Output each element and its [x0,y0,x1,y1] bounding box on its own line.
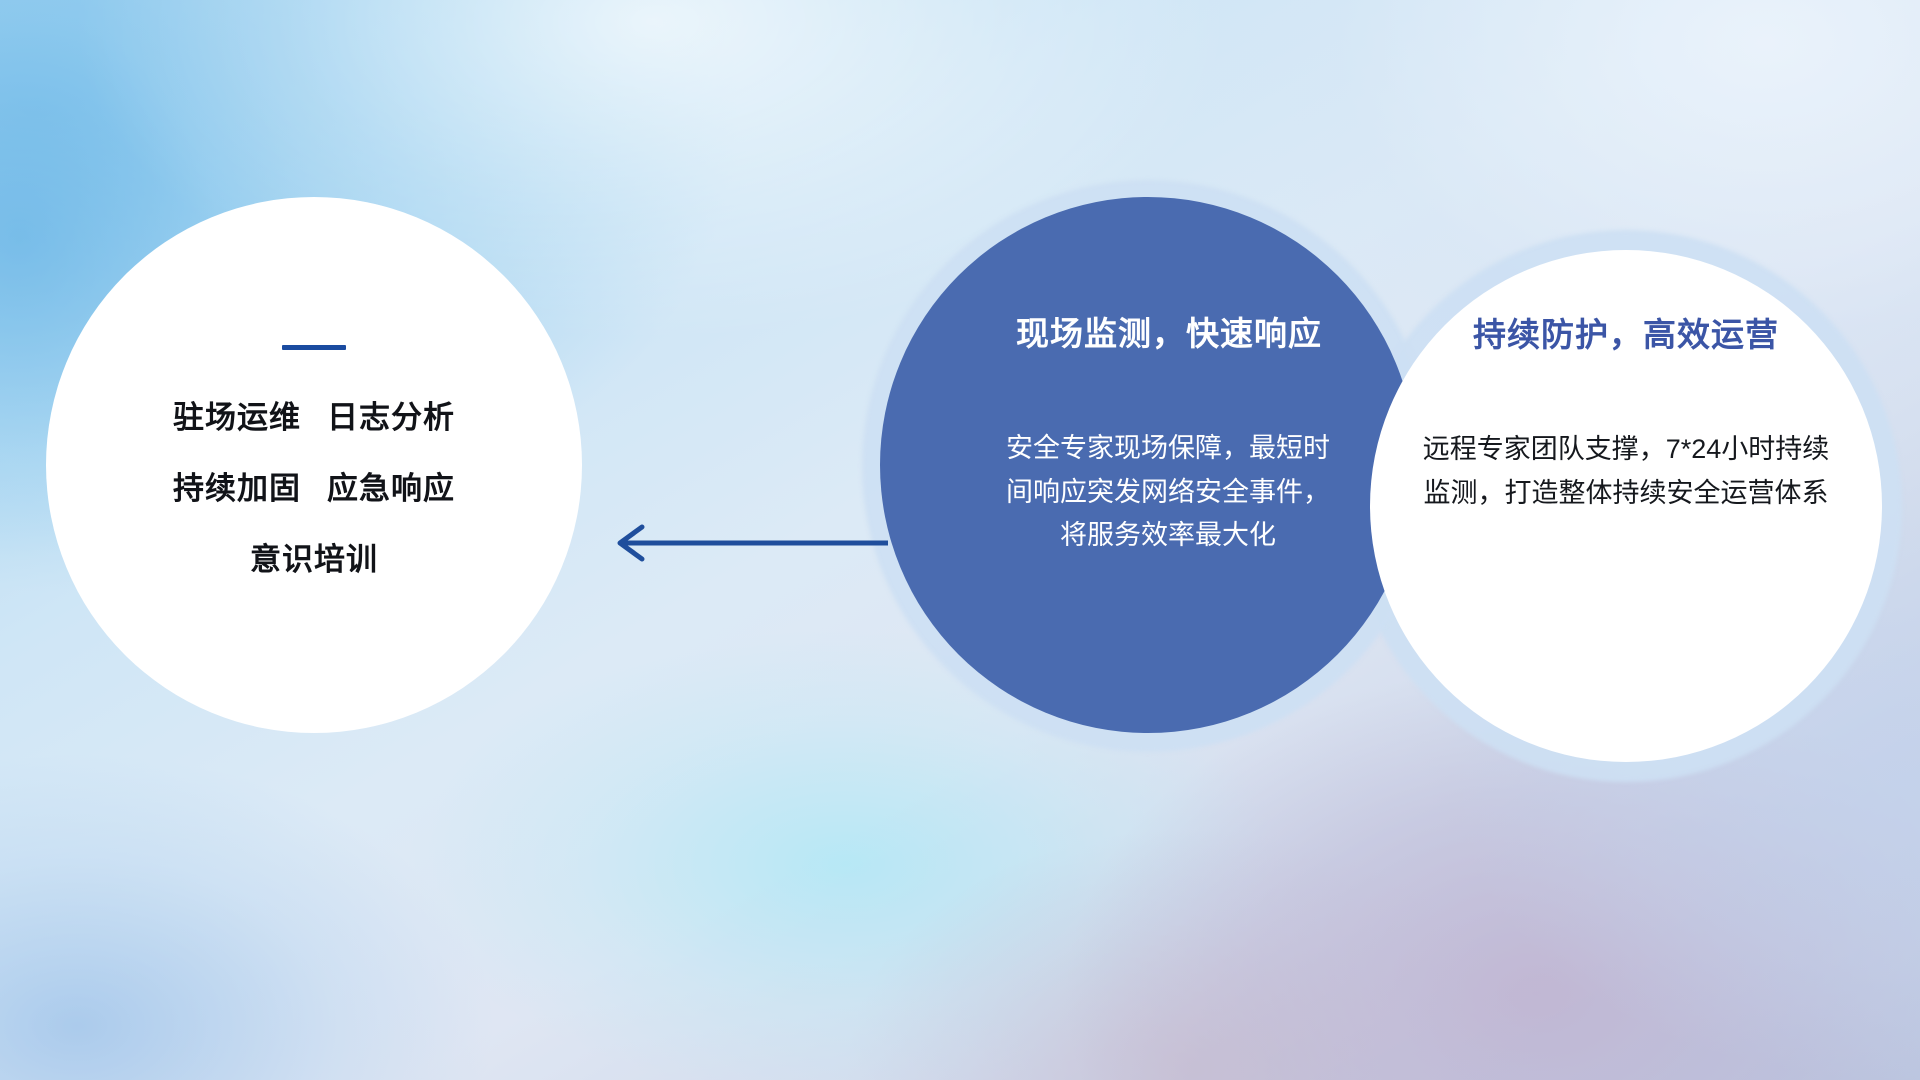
right-circle-content: 持续防护，高效运营 远程专家团队支撑，7*24小时持续监测，打造整体持续安全运营… [1370,250,1882,762]
middle-circle-content: 现场监测，快速响应 安全专家现场保障，最短时间响应突发网络安全事件，将服务效率最… [880,197,1416,733]
middle-circle-title: 现场监测，快速响应 [1016,307,1322,355]
flow-arrow-icon [600,520,890,566]
left-circle-divider [282,345,346,350]
left-circle-tag-4: 应急响应 [327,471,455,506]
left-circle-content: 驻场运维日志分析 持续加固应急响应 意识培训 [46,197,582,733]
right-circle-title: 持续防护，高效运营 [1473,308,1779,356]
left-circle-line-1: 驻场运维日志分析 [173,402,455,433]
slide-canvas: 驻场运维日志分析 持续加固应急响应 意识培训 现场监测，快速响应 安全专家现场保… [0,0,1920,1080]
left-circle-tag-3: 持续加固 [173,471,301,506]
left-circle-tag-5: 意识培训 [250,542,378,577]
middle-circle-body: 安全专家现场保障，最短时间响应突发网络安全事件，将服务效率最大化 [1003,427,1333,558]
left-circle-tag-2: 日志分析 [327,400,455,435]
right-circle-body: 远程专家团队支撑，7*24小时持续监测，打造整体持续安全运营体系 [1416,428,1836,515]
left-circle-line-3: 意识培训 [250,544,378,575]
left-circle-tag-1: 驻场运维 [173,400,301,435]
left-circle-line-2: 持续加固应急响应 [173,473,455,504]
